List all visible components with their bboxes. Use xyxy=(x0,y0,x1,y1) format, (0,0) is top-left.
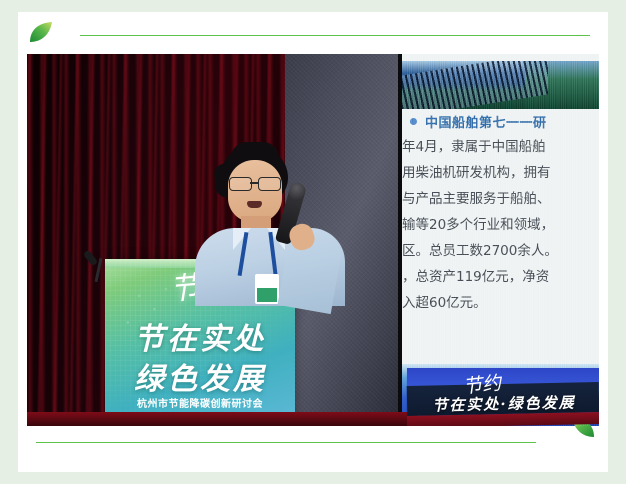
slide-line: 入超60亿元。 xyxy=(398,290,599,316)
slide-line: 与产品主要服务于船舶、 xyxy=(398,186,599,212)
screen-bezel xyxy=(398,54,402,426)
slide-line: 年4月，隶属于中国船舶 xyxy=(398,134,599,160)
bullet-dot-icon xyxy=(410,118,417,125)
page-header xyxy=(18,12,608,54)
slide-text-block: 中国船舶第七一一研 年4月，隶属于中国船舶 用柴油机研发机构，拥有 与产品主要服… xyxy=(398,112,599,316)
podium-subtitle-line1: 杭州市节能降碳创新研讨会 xyxy=(137,395,263,410)
speaker-mouth xyxy=(247,201,262,208)
podium-headline-line2: 绿色发展 xyxy=(134,354,266,398)
leaf-icon xyxy=(28,21,54,45)
conference-photo: 中国船舶第七一一研 年4月，隶属于中国船舶 用柴油机研发机构，拥有 与产品主要服… xyxy=(27,54,599,426)
slide-header-image xyxy=(398,61,599,109)
stage-backdrop-banner: 节约 节在实处·绿色发展 xyxy=(407,368,599,426)
speaker-face xyxy=(228,160,282,222)
speaker-figure xyxy=(195,146,345,306)
stage-skirt xyxy=(27,412,417,426)
podium-headline-line1: 节在实处 xyxy=(134,314,266,358)
slide-line: 区。总员工数2700余人。 xyxy=(398,238,599,264)
slide-bullet-row: 中国船舶第七一一研 xyxy=(398,112,599,131)
document-page: 中国船舶第七一一研 年4月，隶属于中国船舶 用柴油机研发机构，拥有 与产品主要服… xyxy=(18,12,608,472)
footer-divider xyxy=(36,442,536,443)
name-badge xyxy=(255,274,279,304)
header-divider xyxy=(80,35,590,36)
speaker-hair-top xyxy=(231,142,279,158)
glasses-icon xyxy=(228,177,284,189)
slide-bullet-heading: 中国船舶第七一一研 xyxy=(425,112,547,131)
slide-line: ，总资产119亿元，净资 xyxy=(398,264,599,290)
slide-line: 用柴油机研发机构，拥有 xyxy=(398,160,599,186)
slide-header-image-right xyxy=(525,61,599,109)
slide-line: 输等20多个行业和领域， xyxy=(398,212,599,238)
